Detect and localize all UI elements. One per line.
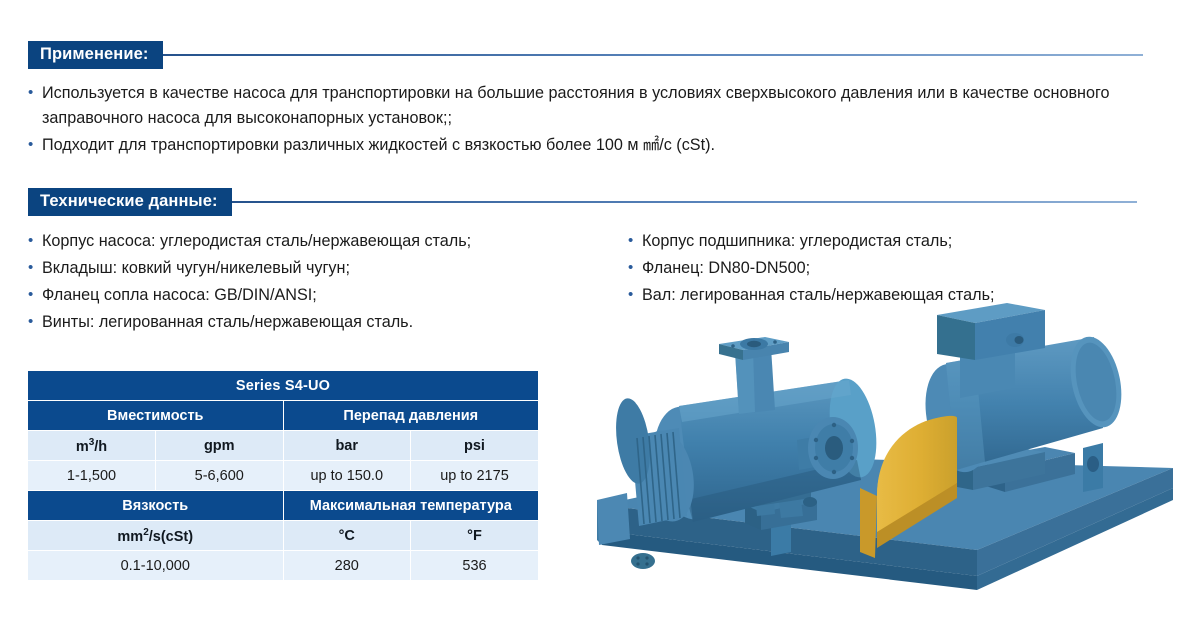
table-row: Вместимость Перепад давления <box>28 401 538 431</box>
list-item: Фланец сопла насоса: GB/DIN/ANSI; <box>28 283 628 308</box>
technical-data-header-rule <box>232 201 1137 203</box>
list-item: Используется в качестве насоса для транс… <box>28 81 1163 131</box>
technical-data-section-header: Технические данные: <box>28 187 1148 217</box>
frame-port <box>631 553 655 569</box>
spec-group-pressure: Перепад давления <box>283 401 538 431</box>
tech-left-bullet-3-text: Фланец сопла насоса: GB/DIN/ANSI; <box>42 286 317 304</box>
application-section: Применение: Используется в качестве насо… <box>28 40 1163 160</box>
technical-data-left-list: Корпус насоса: углеродистая сталь/нержав… <box>28 229 628 337</box>
table-row: mm2/s(cSt) °C °F <box>28 521 538 551</box>
application-bullet-1-text: Используется в качестве насоса для транс… <box>42 84 1110 127</box>
spec-table-title: Series S4-UO <box>28 371 538 401</box>
application-bullet-2-text: Подходит для транспортировки различных ж… <box>42 136 715 154</box>
list-item: Корпус подшипника: углеродистая сталь; <box>628 229 1148 254</box>
spec-value-gpm: 5-6,600 <box>156 461 284 491</box>
application-bullet-list: Используется в качестве насоса для транс… <box>28 81 1163 158</box>
application-header-rule <box>163 54 1143 56</box>
spec-unit-celsius: °C <box>283 521 411 551</box>
list-item: Корпус насоса: углеродистая сталь/нержав… <box>28 229 628 254</box>
spec-unit-m3h: m3/h <box>28 431 156 461</box>
table-row: 1-1,500 5-6,600 up to 150.0 up to 2175 <box>28 461 538 491</box>
application-section-title: Применение: <box>28 41 163 69</box>
list-item: Винты: легированная сталь/нержавеющая ст… <box>28 310 628 335</box>
pump-unit-render <box>575 300 1200 642</box>
spec-group-viscosity: Вязкость <box>28 491 283 521</box>
spec-unit-bar: bar <box>283 431 411 461</box>
tech-left-bullet-1-text: Корпус насоса: углеродистая сталь/нержав… <box>42 232 471 250</box>
spec-value-m3h: 1-1,500 <box>28 461 156 491</box>
tech-right-bullet-1-text: Корпус подшипника: углеродистая сталь; <box>642 232 952 250</box>
list-item: Фланец: DN80-DN500; <box>628 256 1148 281</box>
pump-illustration <box>575 300 1200 642</box>
specification-table: Series S4-UO Вместимость Перепад давлени… <box>28 371 538 580</box>
application-section-header: Применение: <box>28 40 1163 70</box>
table-row: Вязкость Максимальная температура <box>28 491 538 521</box>
tech-left-bullet-2-text: Вкладыш: ковкий чугун/никелевый чугун; <box>42 259 350 277</box>
tech-left-bullet-4-text: Винты: легированная сталь/нержавеющая ст… <box>42 313 413 331</box>
list-item: Вкладыш: ковкий чугун/никелевый чугун; <box>28 256 628 281</box>
spec-unit-psi: psi <box>411 431 539 461</box>
spec-group-max-temperature: Максимальная температура <box>283 491 538 521</box>
table-row: 0.1-10,000 280 536 <box>28 551 538 581</box>
technical-data-section-title: Технические данные: <box>28 188 232 216</box>
table-row: m3/h gpm bar psi <box>28 431 538 461</box>
table-row: Series S4-UO <box>28 371 538 401</box>
tech-right-bullet-2-text: Фланец: DN80-DN500; <box>642 259 810 277</box>
spec-value-psi: up to 2175 <box>411 461 539 491</box>
spec-unit-fahrenheit: °F <box>411 521 539 551</box>
spec-value-bar: up to 150.0 <box>283 461 411 491</box>
spec-unit-gpm: gpm <box>156 431 284 461</box>
spec-value-viscosity: 0.1-10,000 <box>28 551 283 581</box>
spec-group-capacity: Вместимость <box>28 401 283 431</box>
list-item: Подходит для транспортировки различных ж… <box>28 133 1163 158</box>
spec-value-celsius: 280 <box>283 551 411 581</box>
spec-value-fahrenheit: 536 <box>411 551 539 581</box>
spec-unit-mm2s: mm2/s(cSt) <box>28 521 283 551</box>
